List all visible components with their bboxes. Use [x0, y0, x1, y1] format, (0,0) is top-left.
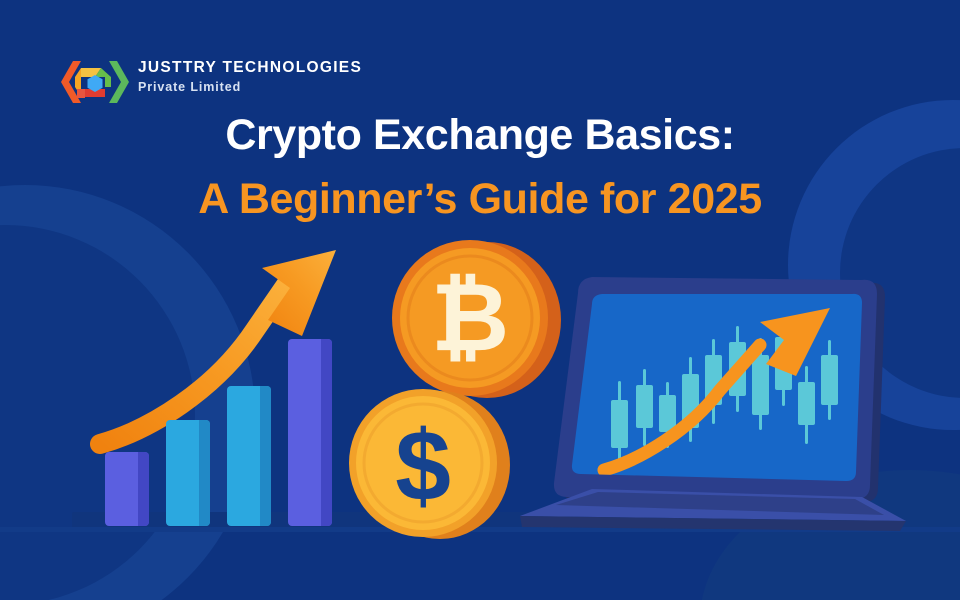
headline-line-2: A Beginner’s Guide for 2025: [0, 172, 960, 227]
brand-logo-text: JUSTTRY TECHNOLOGIES Private Limited: [138, 59, 362, 95]
justtry-hexagon-logo-icon: [55, 55, 135, 109]
promo-banner: JUSTTRY TECHNOLOGIES Private Limited Cry…: [0, 0, 960, 600]
bg-ring-bottom-right: [700, 470, 960, 600]
company-suffix: Private Limited: [138, 81, 362, 95]
ground-platform-shadow: [0, 527, 960, 532]
brand-logo[interactable]: JUSTTRY TECHNOLOGIES Private Limited: [55, 55, 355, 111]
ground-platform: [72, 512, 874, 528]
company-name: JUSTTRY TECHNOLOGIES: [138, 59, 362, 76]
headline-line-1: Crypto Exchange Basics:: [0, 108, 960, 163]
headline-block: Crypto Exchange Basics: A Beginner’s Gui…: [0, 108, 960, 227]
